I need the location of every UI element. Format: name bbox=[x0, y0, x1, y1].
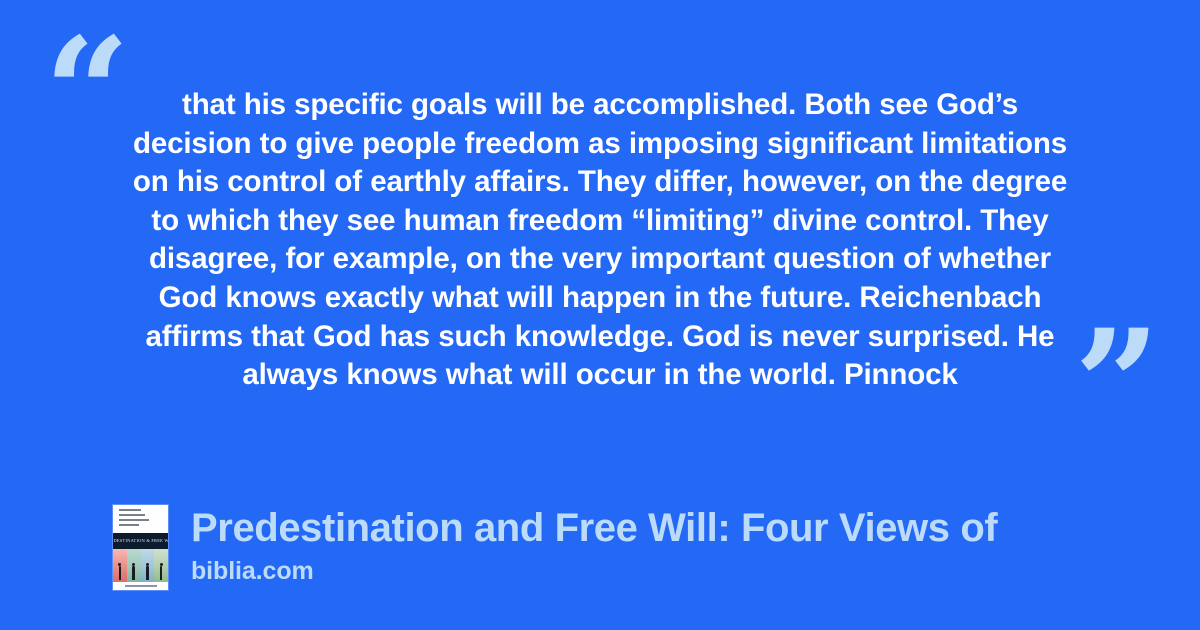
footer: PREDESTINATION & FREE WILL bbox=[113, 505, 997, 590]
figure-icon bbox=[146, 566, 149, 580]
book-cover-panel bbox=[127, 549, 141, 582]
book-cover-author-line bbox=[119, 509, 141, 511]
book-title: Predestination and Free Will: Four Views… bbox=[191, 505, 997, 551]
quote-card: “ ” that his specific goals will be acco… bbox=[0, 0, 1200, 630]
quote-text: that his specific goals will be accompli… bbox=[120, 86, 1080, 395]
book-cover-editors bbox=[113, 582, 168, 590]
book-cover-panel bbox=[113, 549, 127, 582]
footer-text: Predestination and Free Will: Four Views… bbox=[191, 505, 997, 585]
quote-block: that his specific goals will be accompli… bbox=[120, 86, 1080, 395]
book-cover-thumbnail[interactable]: PREDESTINATION & FREE WILL bbox=[113, 505, 168, 590]
book-cover-author-line bbox=[119, 514, 145, 516]
site-name[interactable]: biblia.com bbox=[191, 557, 997, 585]
book-cover-panel bbox=[141, 549, 155, 582]
book-cover-author-line bbox=[119, 524, 139, 526]
book-cover-title-band: PREDESTINATION & FREE WILL bbox=[113, 533, 168, 549]
figure-icon bbox=[132, 566, 135, 580]
book-cover-editor-line bbox=[125, 585, 157, 587]
opening-quote-icon: “ bbox=[44, 18, 130, 168]
closing-quote-icon: ” bbox=[1074, 310, 1160, 460]
book-cover-authors bbox=[113, 505, 168, 533]
figure-icon bbox=[119, 566, 122, 580]
figure-icon bbox=[160, 566, 163, 580]
book-cover-panel bbox=[154, 549, 168, 582]
book-cover-band-title: PREDESTINATION & FREE WILL bbox=[113, 538, 168, 544]
book-cover-author-line bbox=[119, 519, 149, 521]
book-cover-artwork bbox=[113, 549, 168, 582]
